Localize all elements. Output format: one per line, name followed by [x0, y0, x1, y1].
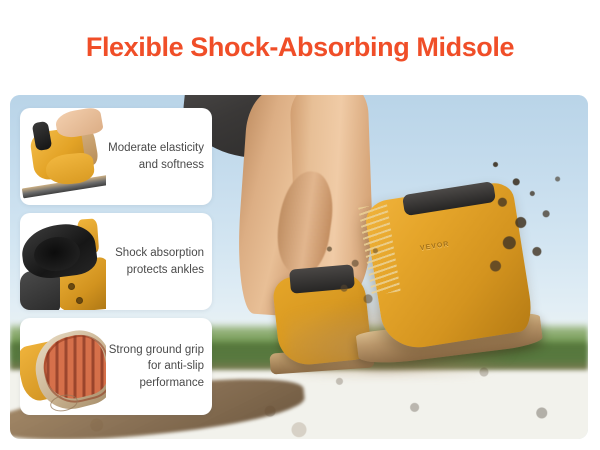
- feature-card-list: Moderate elasticity and softness Shock a…: [20, 108, 212, 415]
- feature-card-anti-slip-grip[interactable]: Strong ground grip for anti-slip perform…: [20, 318, 212, 415]
- feature-card-moderate-elasticity[interactable]: Moderate elasticity and softness: [20, 108, 212, 205]
- feature-card-shock-absorption[interactable]: Shock absorption protects ankles: [20, 213, 212, 310]
- feature-card-label: Moderate elasticity and softness: [106, 140, 212, 173]
- hand-bending-boot-photo: [20, 108, 106, 205]
- outsole-tread-photo: [20, 318, 106, 415]
- boot-eyelet-icon: [68, 283, 75, 290]
- mud-splash-right: [461, 150, 577, 294]
- page-title: Flexible Shock-Absorbing Midsole: [0, 0, 600, 95]
- feature-card-label: Shock absorption protects ankles: [106, 245, 212, 278]
- hand-shape: [54, 108, 104, 140]
- headline-text: Flexible Shock-Absorbing Midsole: [86, 32, 514, 63]
- boot-eyelet-icon: [76, 297, 83, 304]
- feature-card-label: Strong ground grip for anti-slip perform…: [106, 342, 212, 391]
- mud-splash-center: [311, 233, 403, 322]
- padded-ankle-collar-photo: [20, 213, 106, 310]
